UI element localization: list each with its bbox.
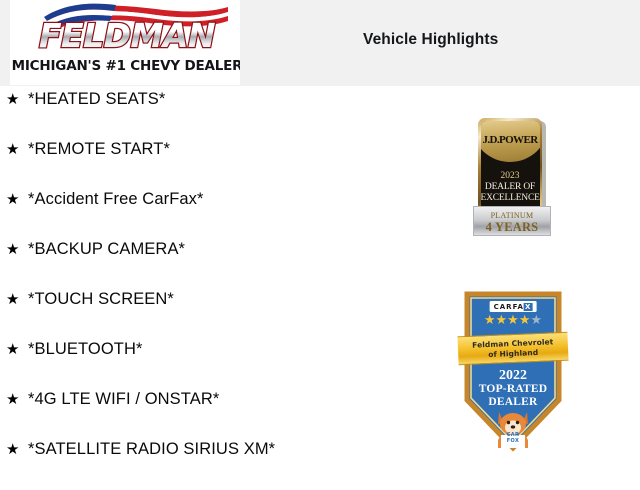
dealer-tagline: MICHIGAN'S #1 CHEVY DEALER [10, 58, 240, 74]
jd-power-badge-face: J.D.POWER 2023 DEALER OF EXCELLENCE [481, 121, 540, 220]
star-bullet-icon: ★ [6, 242, 28, 257]
jd-power-award-line2: EXCELLENCE [481, 193, 540, 203]
carfax-year: 2022 [461, 368, 565, 384]
jd-power-year: 2023 [481, 171, 540, 181]
carfax-mascot-tag: CAR FOX [507, 433, 520, 444]
carfax-mascot-tag-line2: FOX [507, 438, 520, 444]
page-title: Vehicle Highlights [363, 31, 498, 49]
star-bullet-icon: ★ [6, 142, 28, 157]
list-item: ★ *4G LTE WIFI / ONSTAR* [0, 390, 430, 440]
jd-power-ribbon: PLATINUM 4 YEARS [473, 206, 551, 236]
list-item-label: *BACKUP CAMERA* [28, 240, 185, 259]
list-item-label: *BLUETOOTH* [28, 340, 143, 359]
dealer-wordmark-fill: FELDMAN [18, 17, 236, 55]
list-item: ★ *BACKUP CAMERA* [0, 240, 430, 290]
jd-power-ribbon-line2: 4 YEARS [474, 220, 550, 235]
carfax-badge-content: CARFAX ★★★★★ Feldman Chevrolet of Highla… [461, 288, 565, 454]
carfax-logo-x: X [524, 303, 532, 311]
carfax-star-rating: ★★★★★ [461, 313, 565, 327]
carfax-dealer-name: Feldman Chevrolet of Highland [458, 337, 569, 361]
star-bullet-icon: ★ [6, 442, 28, 457]
list-item: ★ *TOUCH SCREEN* [0, 290, 430, 340]
dealer-wordmark: FELDMAN FELDMAN [18, 17, 236, 57]
carfax-logo-main: CARFA [494, 303, 524, 311]
star-bullet-icon: ★ [6, 192, 28, 207]
carfax-dealer-line2: of Highland [488, 347, 538, 358]
list-item-label: *4G LTE WIFI / ONSTAR* [28, 390, 219, 409]
jd-power-award-line1: DEALER OF [485, 182, 535, 192]
carfax-stars-filled: ★★★★ [484, 312, 531, 327]
carfax-star-partial: ★ [530, 312, 542, 327]
list-item: ★ *BLUETOOTH* [0, 340, 430, 390]
list-item: ★ *HEATED SEATS* [0, 90, 430, 140]
list-item: ★ *SATELLITE RADIO SIRIUS XM* [0, 440, 430, 490]
vehicle-highlights-list: ★ *HEATED SEATS* ★ *REMOTE START* ★ *Acc… [0, 90, 430, 490]
list-item-label: *REMOTE START* [28, 140, 170, 159]
carfax-award-line1: TOP-RATED [479, 383, 547, 395]
list-item: ★ *Accident Free CarFax* [0, 190, 430, 240]
carfax-dealer-banner: Feldman Chevrolet of Highland [457, 332, 568, 366]
carfax-logo: CARFAX [490, 301, 537, 312]
list-item: ★ *REMOTE START* [0, 140, 430, 190]
jd-power-ribbon-line1: PLATINUM [474, 211, 550, 220]
list-item-label: *SATELLITE RADIO SIRIUS XM* [28, 440, 275, 459]
jd-power-award-title: DEALER OF EXCELLENCE [481, 182, 540, 204]
list-item-label: *Accident Free CarFax* [28, 190, 204, 209]
carfax-top-rated-dealer-badge: CARFAX ★★★★★ Feldman Chevrolet of Highla… [461, 288, 565, 454]
carfax-award-title: TOP-RATED DEALER [461, 383, 565, 409]
star-bullet-icon: ★ [6, 342, 28, 357]
header-strip: FELDMAN FELDMAN MICHIGAN'S #1 CHEVY DEAL… [0, 0, 640, 86]
star-bullet-icon: ★ [6, 92, 28, 107]
star-bullet-icon: ★ [6, 292, 28, 307]
dealer-logo[interactable]: FELDMAN FELDMAN MICHIGAN'S #1 CHEVY DEAL… [10, 0, 240, 85]
jd-power-award-badge: J.D.POWER 2023 DEALER OF EXCELLENCE PLAT… [478, 118, 546, 238]
carfax-award-line2: DEALER [488, 396, 537, 408]
star-bullet-icon: ★ [6, 392, 28, 407]
list-item-label: *TOUCH SCREEN* [28, 290, 174, 309]
jd-power-brand-label: J.D.POWER [481, 134, 540, 146]
list-item-label: *HEATED SEATS* [28, 90, 165, 109]
